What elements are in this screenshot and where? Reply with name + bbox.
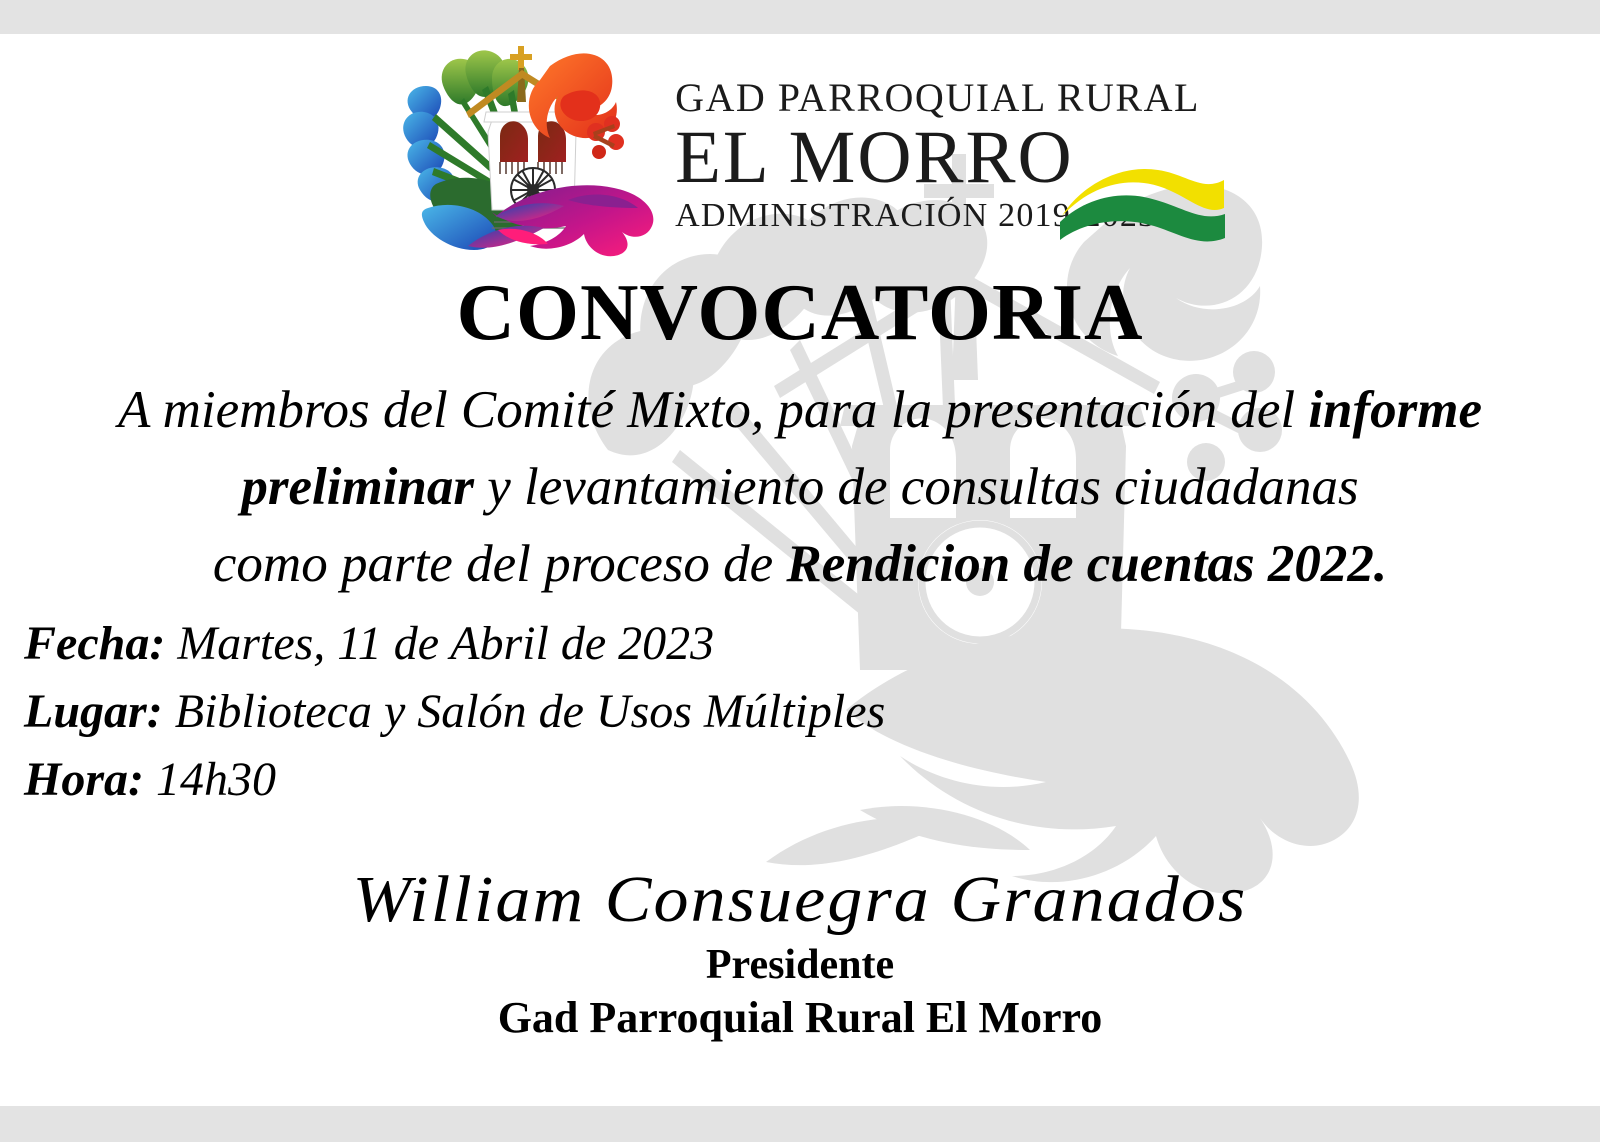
detail-value-fecha: Martes, 11 de Abril de 2023 <box>177 617 714 670</box>
detail-row-hora: Hora: 14h30 <box>24 746 885 814</box>
announcement-paragraph: A miembros del Comité Mixto, para la pre… <box>14 372 1586 603</box>
paragraph-line2-post: y levantamiento de consultas ciudadanas <box>474 458 1359 516</box>
event-details: Fecha: Martes, 11 de Abril de 2023 Lugar… <box>24 610 885 814</box>
detail-row-fecha: Fecha: Martes, 11 de Abril de 2023 <box>24 610 885 678</box>
signature-role: Presidente <box>0 942 1600 988</box>
paragraph-line2-bold: preliminar <box>241 458 474 516</box>
detail-value-lugar: Biblioteca y Salón de Usos Múltiples <box>175 685 886 738</box>
detail-value-hora: 14h30 <box>156 753 276 806</box>
page-title: CONVOCATORIA <box>0 272 1600 353</box>
detail-label-hora: Hora: <box>24 753 144 806</box>
signature-organization: Gad Parroquial Rural El Morro <box>0 994 1600 1042</box>
flyer-page: GAD PARROQUIAL RURAL EL MORRO ADMINISTRA… <box>0 0 1600 1142</box>
detail-label-fecha: Fecha: <box>24 617 165 670</box>
paragraph-line3-bold: Rendicion de cuentas 2022. <box>786 535 1387 593</box>
paragraph-line1-pre: A miembros del Comité Mixto, para la pre… <box>118 381 1308 439</box>
flyer-content: CONVOCATORIA A miembros del Comité Mixto… <box>0 0 1600 1142</box>
detail-row-lugar: Lugar: Biblioteca y Salón de Usos Múltip… <box>24 678 885 746</box>
paragraph-line1-bold: informe <box>1308 381 1482 439</box>
paragraph-line3-pre: como parte del proceso de <box>213 535 787 593</box>
detail-label-lugar: Lugar: <box>24 685 163 738</box>
signature-block: William Consuegra Granados Presidente Ga… <box>0 865 1600 1043</box>
signature-name: William Consuegra Granados <box>0 865 1600 934</box>
